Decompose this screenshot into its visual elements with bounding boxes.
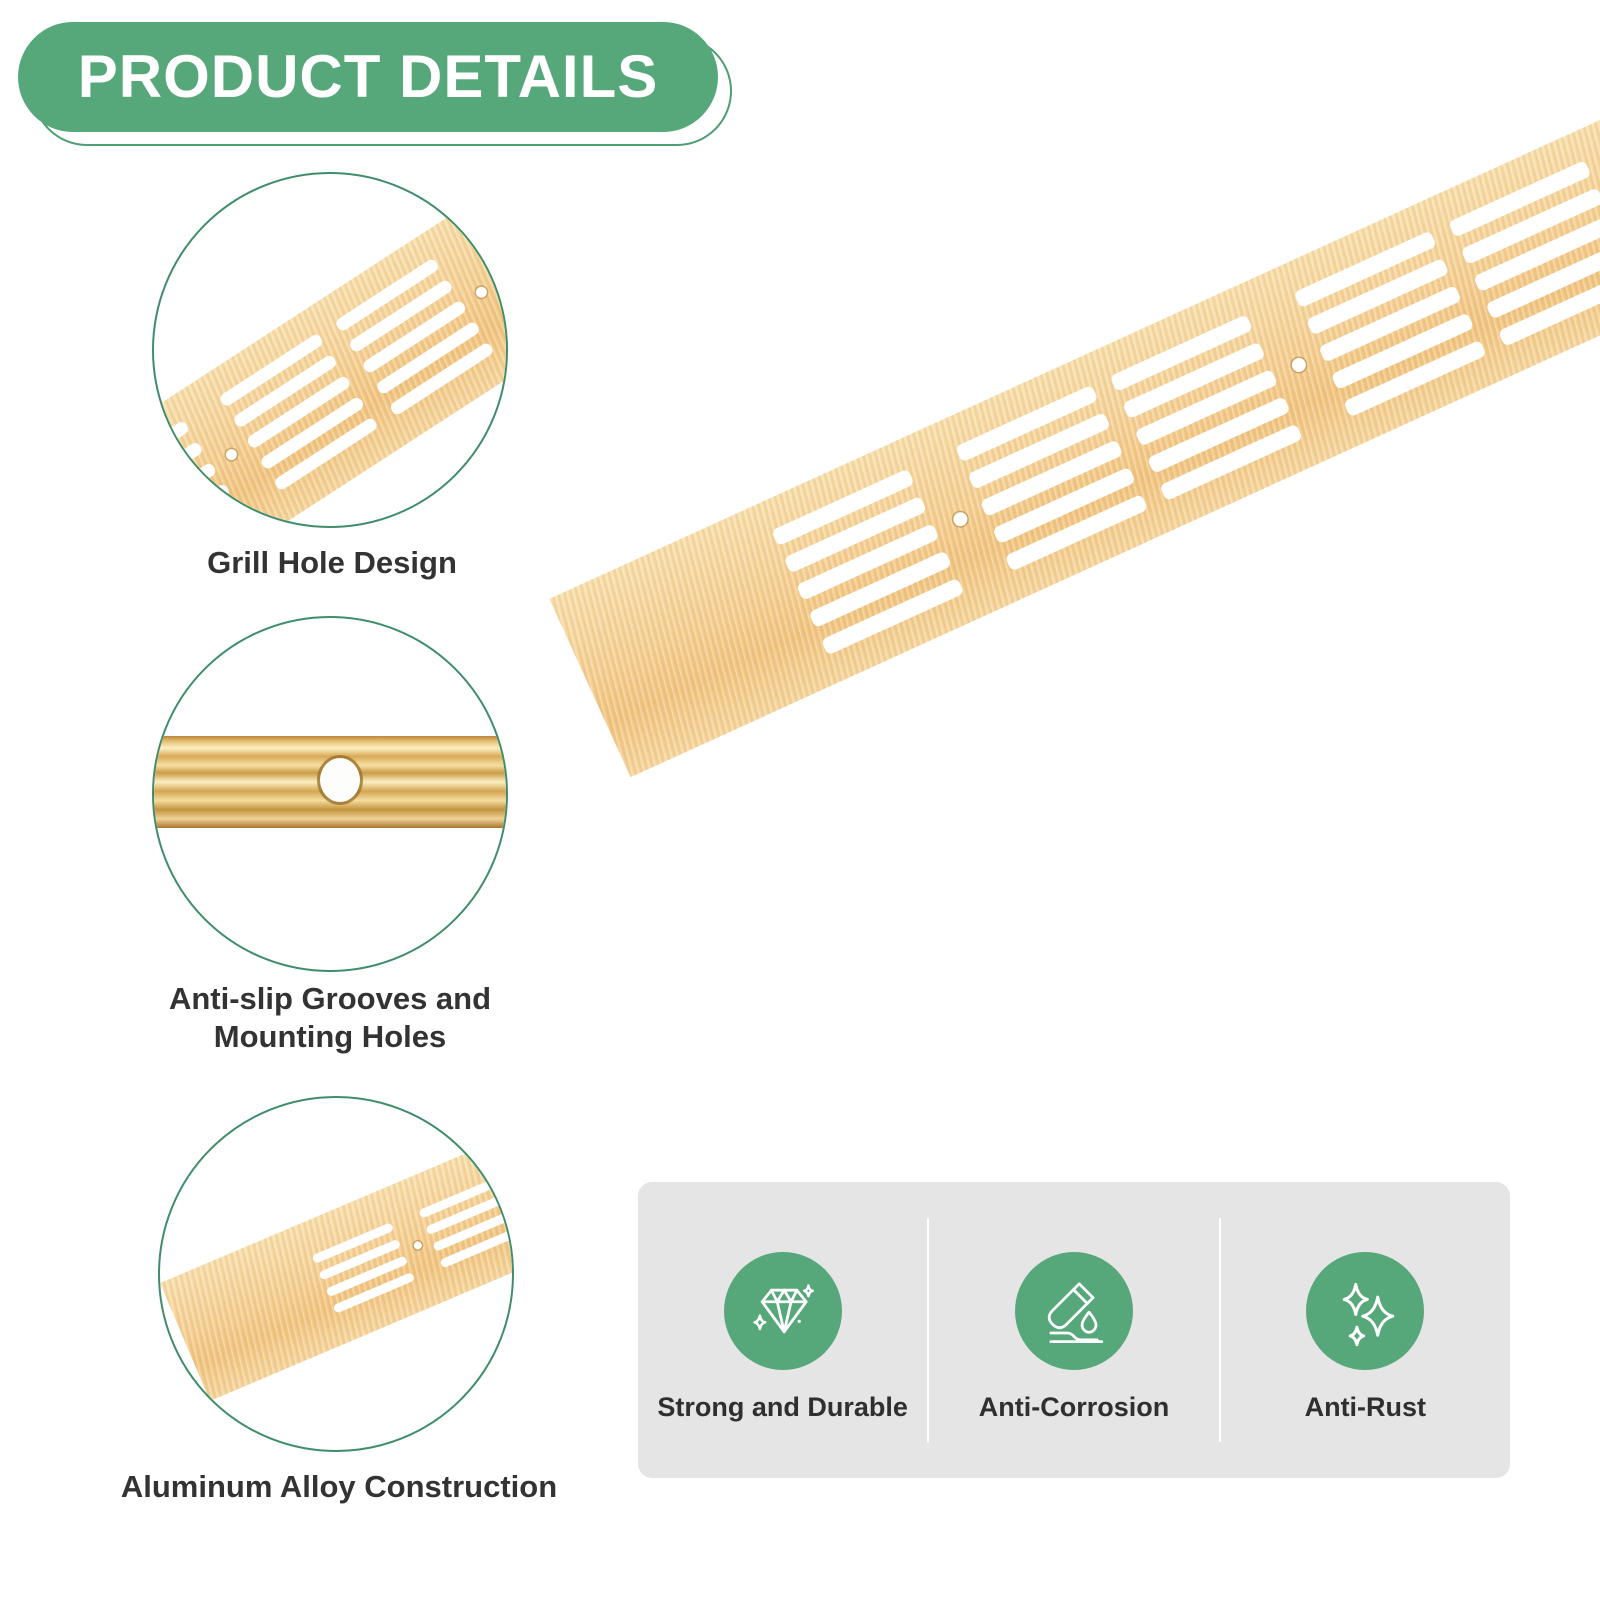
vent-strip-closeup [152, 172, 508, 528]
detail-item-anti-slip: Anti-slip Grooves and Mounting Holes [152, 616, 508, 972]
feature-anti-corrosion: Anti-Corrosion [929, 1182, 1218, 1478]
diamond-icon-badge [724, 1252, 842, 1370]
anti-slip-circle-image [152, 616, 508, 972]
page-header: PRODUCT DETAILS [18, 22, 718, 132]
detail-item-aluminum-alloy: Aluminum Alloy Construction [158, 1096, 514, 1452]
sparkles-icon [1328, 1274, 1402, 1348]
diamond-icon [746, 1274, 820, 1348]
detail-item-grill-hole: Grill Hole Design [152, 172, 508, 528]
grill-hole-circle-image [152, 172, 508, 528]
feature-anti-rust: Anti-Rust [1221, 1182, 1510, 1478]
detail-caption-grill-hole: Grill Hole Design [0, 544, 682, 583]
detail-caption-anti-slip-line2: Mounting Holes [0, 1018, 680, 1057]
test-tube-icon-badge [1015, 1252, 1133, 1370]
gold-vent-strip [549, 89, 1600, 777]
mounting-hole [320, 758, 360, 802]
detail-caption-anti-slip-line1: Anti-slip Grooves and [0, 980, 680, 1019]
angled-vent-plate [160, 1115, 514, 1401]
feature-strong-and-durable: Strong and Durable [638, 1182, 927, 1478]
page-title: PRODUCT DETAILS [78, 47, 659, 107]
header-badge: PRODUCT DETAILS [18, 22, 718, 132]
sparkles-icon-badge [1306, 1252, 1424, 1370]
hero-product-image [560, 220, 1600, 1100]
feature-panel: Strong and Durable Anti-Corrosion [638, 1182, 1510, 1478]
test-tube-drop-icon [1037, 1274, 1111, 1348]
detail-caption-aluminum-alloy: Aluminum Alloy Construction [0, 1468, 689, 1507]
feature-label-anti-rust: Anti-Rust [1305, 1392, 1426, 1423]
feature-label-anti-corrosion: Anti-Corrosion [979, 1392, 1169, 1423]
aluminum-alloy-circle-image [158, 1096, 514, 1452]
feature-label-strong-and-durable: Strong and Durable [657, 1392, 908, 1423]
